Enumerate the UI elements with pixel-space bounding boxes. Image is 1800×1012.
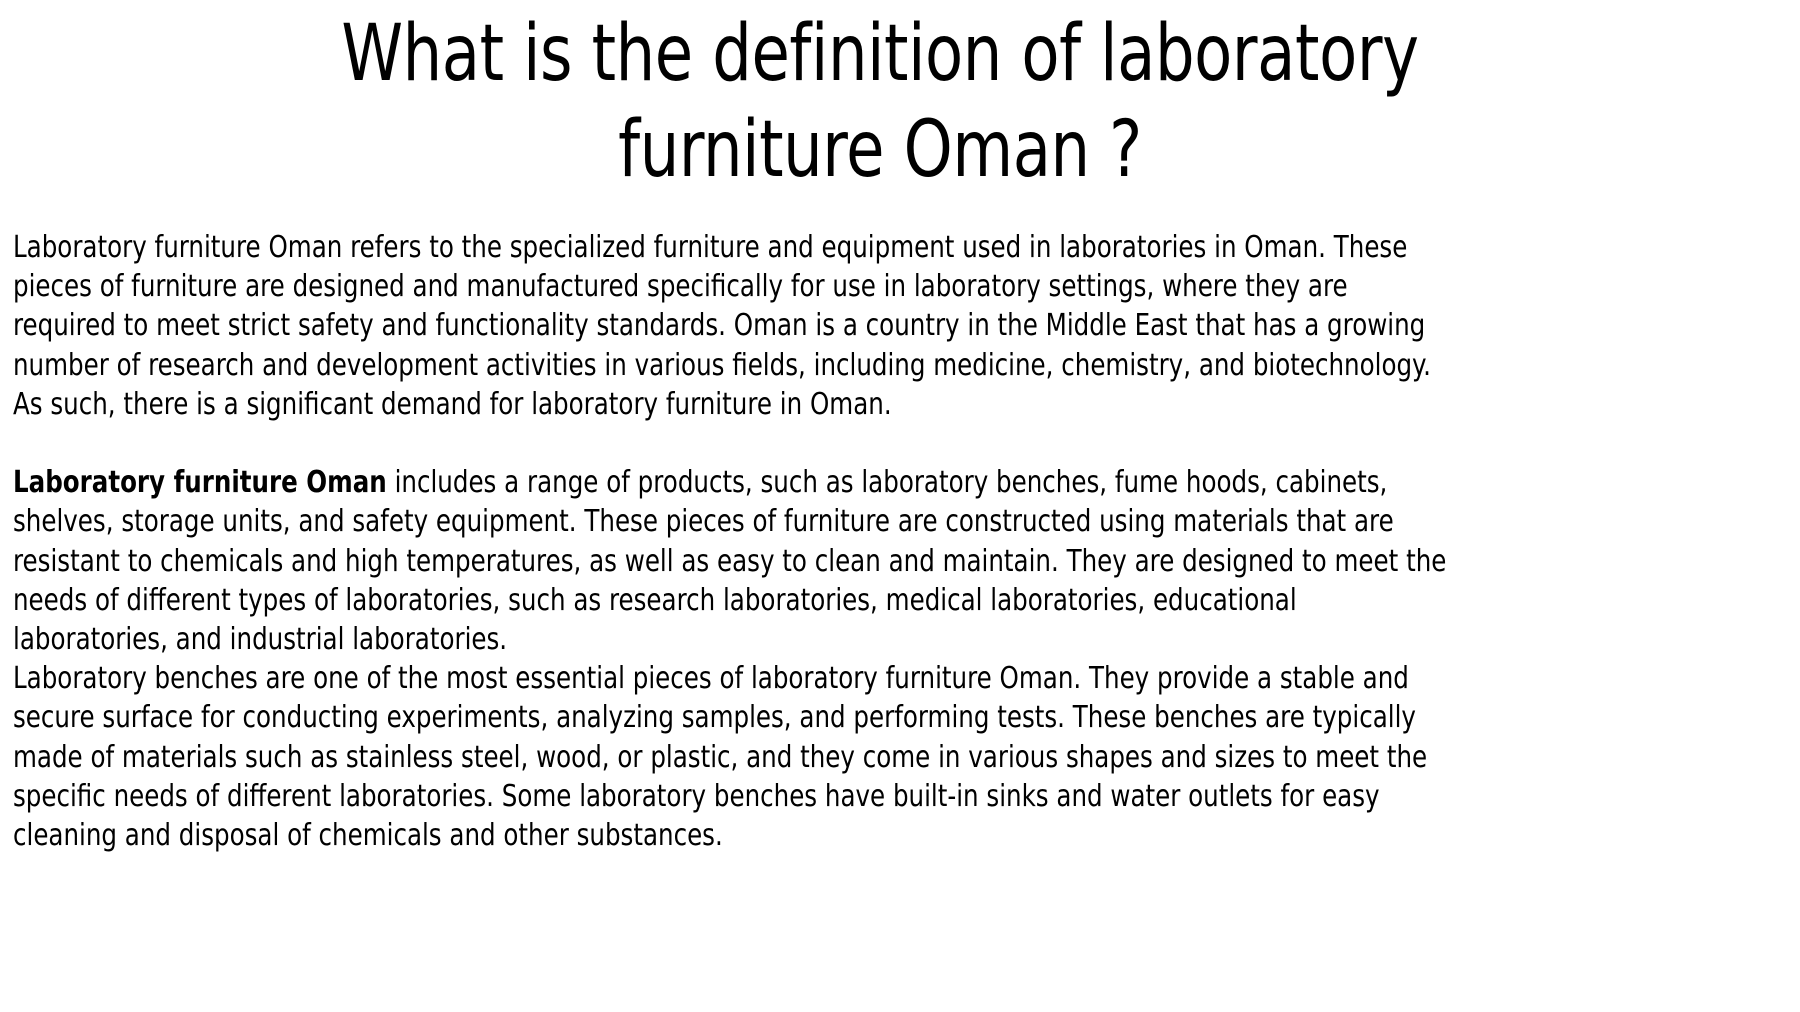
paragraph-1-line-4: number of research and development activ… xyxy=(13,346,1448,385)
paragraph-2-line-2: shelves, storage units, and safety equip… xyxy=(13,502,1448,541)
page-title-line-2: furniture Oman ? xyxy=(176,102,1584,198)
paragraph-1: Laboratory furniture Oman refers to the … xyxy=(13,228,1795,424)
paragraph-2-line-1-rest: includes a range of products, such as la… xyxy=(387,465,1388,500)
paragraph-1-line-5: As such, there is a significant demand f… xyxy=(13,385,1448,424)
paragraph-3: Laboratory benches are one of the most e… xyxy=(13,659,1795,855)
paragraph-2-line-4: needs of different types of laboratories… xyxy=(13,581,1448,620)
paragraph-3-line-2: secure surface for conducting experiment… xyxy=(13,698,1448,737)
paragraph-2: Laboratory furniture Oman includes a ran… xyxy=(13,463,1795,659)
paragraph-1-line-3: required to meet strict safety and funct… xyxy=(13,306,1448,345)
paragraph-1-line-1: Laboratory furniture Oman refers to the … xyxy=(13,228,1448,267)
paragraph-2-line-5: laboratories, and industrial laboratorie… xyxy=(13,620,1448,659)
paragraph-3-line-3: made of materials such as stainless stee… xyxy=(13,738,1448,777)
body-content: Laboratory furniture Oman refers to the … xyxy=(13,228,1795,855)
paragraph-3-line-5: cleaning and disposal of chemicals and o… xyxy=(13,816,1448,855)
slide-canvas: What is the definition of laboratory fur… xyxy=(0,0,1800,1012)
page-title: What is the definition of laboratory fur… xyxy=(0,6,1760,198)
paragraph-separator xyxy=(13,424,1795,463)
paragraph-2-lead-bold: Laboratory furniture Oman xyxy=(13,465,387,500)
paragraph-3-line-4: specific needs of different laboratories… xyxy=(13,777,1448,816)
paragraph-2-line-3: resistant to chemicals and high temperat… xyxy=(13,542,1448,581)
page-title-line-1: What is the definition of laboratory xyxy=(176,6,1584,102)
paragraph-2-line-1: Laboratory furniture Oman includes a ran… xyxy=(13,463,1448,502)
paragraph-1-line-2: pieces of furniture are designed and man… xyxy=(13,267,1448,306)
paragraph-3-line-1: Laboratory benches are one of the most e… xyxy=(13,659,1448,698)
